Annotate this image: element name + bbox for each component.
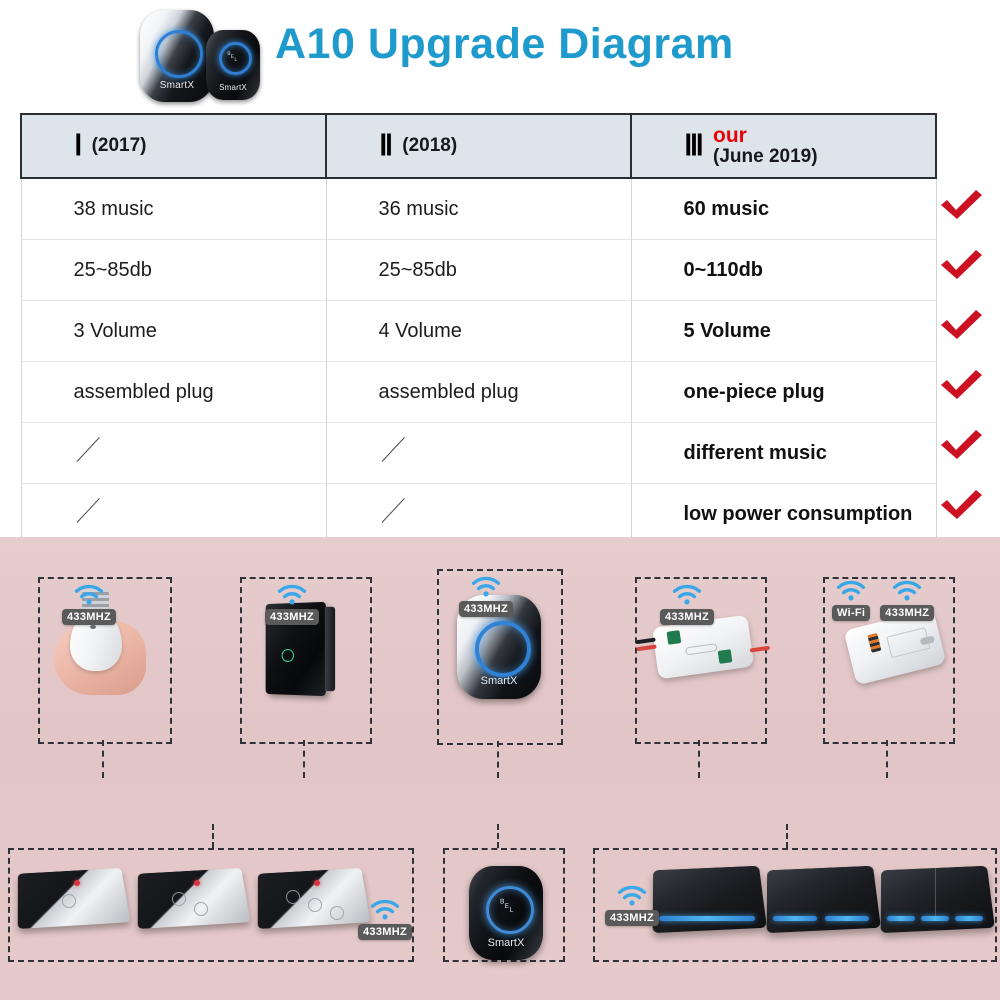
led-indicator-bar	[773, 916, 817, 921]
switch-body	[767, 866, 881, 933]
checkmark-column	[938, 175, 996, 535]
cell-gen2-plug: assembled plug	[326, 362, 631, 423]
gen3-year: (June 2019)	[713, 147, 818, 167]
table-row: assembled plug assembled plug one-piece …	[21, 362, 936, 423]
product-box-touch-switch-group: 433MHZ	[8, 848, 414, 962]
product-box-doorbell-button: ␇ SmartX	[443, 848, 565, 962]
touch-key-icon	[194, 902, 208, 916]
switch-body	[138, 868, 251, 929]
touch-key-icon	[172, 892, 186, 906]
touch-key-icon	[308, 898, 322, 912]
cell-gen3-lowpower: low power consumption	[631, 484, 936, 545]
badge-group-kinetic-switch-group: 433MHZ	[605, 884, 659, 926]
badge-group-touch-switch-group: 433MHZ	[358, 898, 412, 940]
status-led-icon	[314, 880, 320, 886]
cell-gen2-diffmusic	[326, 423, 631, 484]
switch-body	[881, 866, 995, 933]
connector-rf-relay	[698, 740, 700, 778]
kinetic-switch-2button	[767, 862, 877, 942]
switch-divider	[935, 868, 936, 916]
badge-label: 433MHZ	[660, 609, 714, 625]
table-body: 38 music 36 music 60 music 25~85db 25~85…	[21, 178, 936, 545]
table-row: 25~85db 25~85db 0~110db	[21, 240, 936, 301]
badge-group-touch-switch: 433MHZ	[265, 583, 319, 625]
checkmark-icon	[938, 355, 996, 415]
cell-gen2-lowpower	[326, 484, 631, 545]
connector-touch-switch	[303, 740, 305, 778]
doorbell-ring-icon	[155, 30, 203, 78]
badge-label: 433MHZ	[265, 609, 319, 625]
wifi-icon	[670, 583, 704, 607]
doorbell-button-icon: ␇ SmartX	[206, 30, 260, 100]
touch-key-icon	[330, 906, 344, 920]
badge-group-lamp-holder: 433MHZ	[62, 583, 116, 625]
led-indicator-bar	[921, 916, 949, 921]
relay-terminal	[667, 630, 682, 645]
badge-433mhz: 433MHZ	[265, 583, 319, 625]
cell-gen2-volume: 4 Volume	[326, 301, 631, 362]
table-row: 3 Volume 4 Volume 5 Volume	[21, 301, 936, 362]
doorbell-receiver-icon: SmartX	[140, 10, 214, 102]
product-box-kinetic-switch-group: 433MHZ	[593, 848, 997, 962]
switch-side-edge	[325, 607, 335, 692]
bell-icon: ␇	[486, 886, 528, 928]
badge-label: 433MHZ	[605, 910, 659, 926]
bell-icon: ␇	[219, 42, 246, 69]
checkmark-icon	[938, 295, 996, 355]
badge-433mhz: 433MHZ	[358, 898, 412, 940]
table-header-row: Ⅰ (2017) Ⅱ (2018)	[21, 114, 936, 178]
cell-gen1-volume: 3 Volume	[21, 301, 326, 362]
touch-wall-switch-1gang	[18, 864, 126, 938]
not-available-slash-icon	[74, 437, 108, 463]
our-badge-label: our	[713, 125, 818, 147]
table-row: low power consumption	[21, 484, 936, 545]
cell-gen2-db: 25~85db	[326, 240, 631, 301]
badge-label: 433MHZ	[459, 601, 513, 617]
badge-433mhz: 433MHZ	[880, 579, 934, 621]
badge-433mhz: 433MHZ	[459, 575, 513, 617]
table-row: 38 music 36 music 60 music	[21, 178, 936, 240]
badge-label: 433MHZ	[62, 609, 116, 625]
badge-433mhz: 433MHZ	[605, 884, 659, 926]
wifi-icon	[469, 575, 503, 599]
cell-gen1-lowpower	[21, 484, 326, 545]
cell-gen1-plug: assembled plug	[21, 362, 326, 423]
relay-terminal-pads	[867, 633, 881, 653]
badge-433mhz: 433MHZ	[660, 583, 714, 625]
connector-wifi-relay	[886, 740, 888, 778]
column-header-gen3: Ⅲ our (June 2019)	[631, 114, 936, 178]
connector-doorbell-top	[497, 741, 499, 778]
connector-bottom-kinetic-group	[786, 824, 788, 848]
page-title: A10 Upgrade Diagram	[275, 20, 734, 69]
hero-doorbell-image: SmartX ␇ SmartX	[132, 8, 292, 104]
wifi-icon	[275, 583, 309, 607]
touch-wall-switch-2gang	[138, 864, 246, 938]
wifi-icon	[72, 583, 106, 607]
badge-group-wifi-relay: Wi-Fi 433MHZ	[832, 579, 934, 621]
hero-big-brand-label: SmartX	[140, 80, 214, 91]
relay-terminal	[718, 649, 733, 664]
column-header-gen1: Ⅰ (2017)	[21, 114, 326, 178]
touch-key-icon	[282, 649, 294, 662]
not-available-slash-icon	[379, 498, 413, 524]
badge-wifi: Wi-Fi	[832, 579, 870, 621]
relay-wire	[636, 644, 656, 651]
cell-gen1-db: 25~85db	[21, 240, 326, 301]
wifi-icon	[834, 579, 868, 603]
not-available-slash-icon	[74, 498, 108, 524]
gen2-year: (2018)	[402, 136, 457, 156]
status-led-icon	[74, 880, 80, 886]
badge-group-doorbell: 433MHZ	[459, 575, 513, 617]
doorbell-ring-icon	[475, 621, 531, 677]
doorbell-brand-label: SmartX	[469, 937, 543, 949]
cell-gen3-volume: 5 Volume	[631, 301, 936, 362]
kinetic-switch-3button	[881, 862, 991, 942]
compatibility-diagram-section: SmartX 433MHZ	[0, 537, 1000, 1000]
cell-gen3-music: 60 music	[631, 178, 936, 240]
badge-label: 433MHZ	[880, 605, 934, 621]
status-led-icon	[194, 880, 200, 886]
roman-numeral-1: Ⅰ	[74, 132, 83, 161]
roman-numeral-3: Ⅲ	[684, 132, 704, 161]
lamp-holder-sensor-dot	[90, 625, 96, 629]
led-indicator-bar	[955, 916, 983, 921]
badge-433mhz: 433MHZ	[62, 583, 116, 625]
column-header-gen2: Ⅱ (2018)	[326, 114, 631, 178]
touch-wall-switch-3gang	[258, 864, 366, 938]
cell-gen3-db: 0~110db	[631, 240, 936, 301]
cell-gen3-plug: one-piece plug	[631, 362, 936, 423]
touch-key-icon	[286, 890, 300, 904]
cell-gen3-diffmusic: different music	[631, 423, 936, 484]
gen1-year: (2017)	[92, 136, 147, 156]
comparison-section: SmartX ␇ SmartX A10 Upgrade Diagram Ⅰ (2…	[0, 0, 1000, 537]
wifi-icon	[615, 884, 649, 908]
cell-gen2-music: 36 music	[326, 178, 631, 240]
relay-slot	[685, 643, 718, 655]
connector-lamp-holder	[102, 740, 104, 778]
smartx-doorbell-button: ␇ SmartX	[469, 866, 543, 960]
header-band: SmartX ␇ SmartX A10 Upgrade Diagram	[0, 0, 1000, 108]
touch-key-icon	[62, 894, 76, 908]
relay-wire	[635, 638, 655, 645]
wifi-icon	[368, 898, 402, 922]
doorbell-brand-label: SmartX	[457, 675, 541, 687]
badge-label: Wi-Fi	[832, 605, 870, 621]
checkmark-icon	[938, 175, 996, 235]
badge-label: 433MHZ	[358, 924, 412, 940]
kinetic-switch-1button	[653, 862, 763, 942]
led-indicator-bar	[825, 916, 869, 921]
not-available-slash-icon	[379, 437, 413, 463]
badge-group-rf-relay: 433MHZ	[660, 583, 714, 625]
checkmark-icon	[938, 415, 996, 475]
relay-wire	[750, 646, 770, 653]
roman-numeral-2: Ⅱ	[379, 132, 393, 161]
connector-bottom-touch-group	[212, 824, 214, 848]
checkmark-icon	[938, 235, 996, 295]
hero-small-brand-label: SmartX	[206, 83, 260, 92]
switch-body	[653, 866, 767, 933]
table-row: different music	[21, 423, 936, 484]
led-indicator-bar	[659, 916, 755, 921]
checkmark-icon	[938, 475, 996, 535]
wifi-icon	[890, 579, 924, 603]
cell-gen1-music: 38 music	[21, 178, 326, 240]
led-indicator-bar	[887, 916, 915, 921]
cell-gen1-diffmusic	[21, 423, 326, 484]
connector-bottom-doorbell	[497, 824, 499, 848]
comparison-table: Ⅰ (2017) Ⅱ (2018)	[20, 113, 937, 545]
